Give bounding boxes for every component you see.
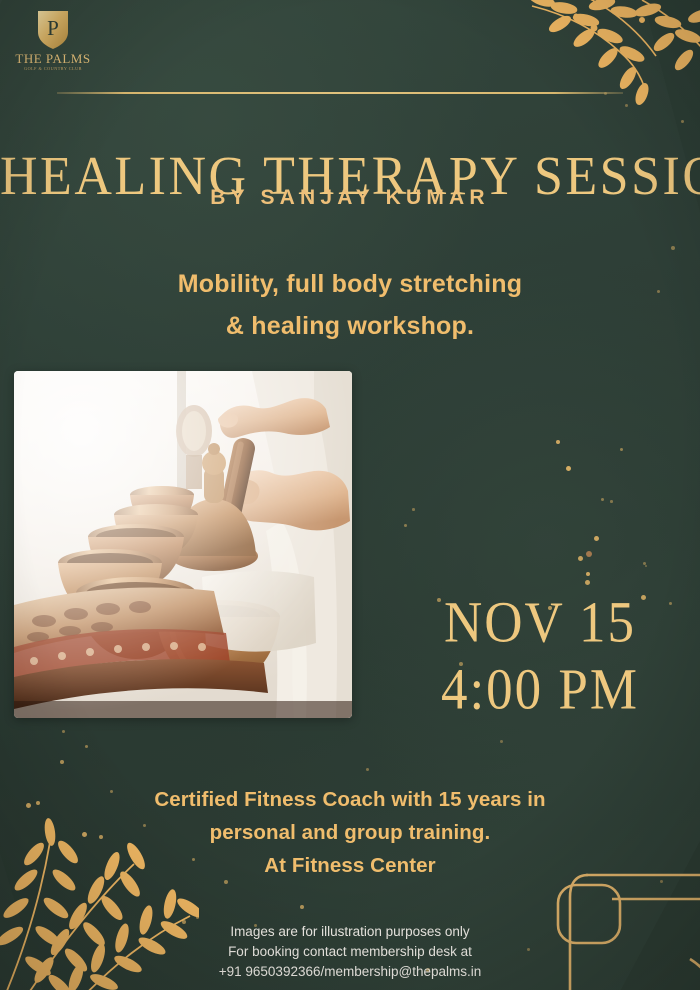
vignette-overlay xyxy=(0,0,700,990)
poster-canvas: P THE PALMS GOLF & COUNTRY CLUB xyxy=(0,0,700,990)
